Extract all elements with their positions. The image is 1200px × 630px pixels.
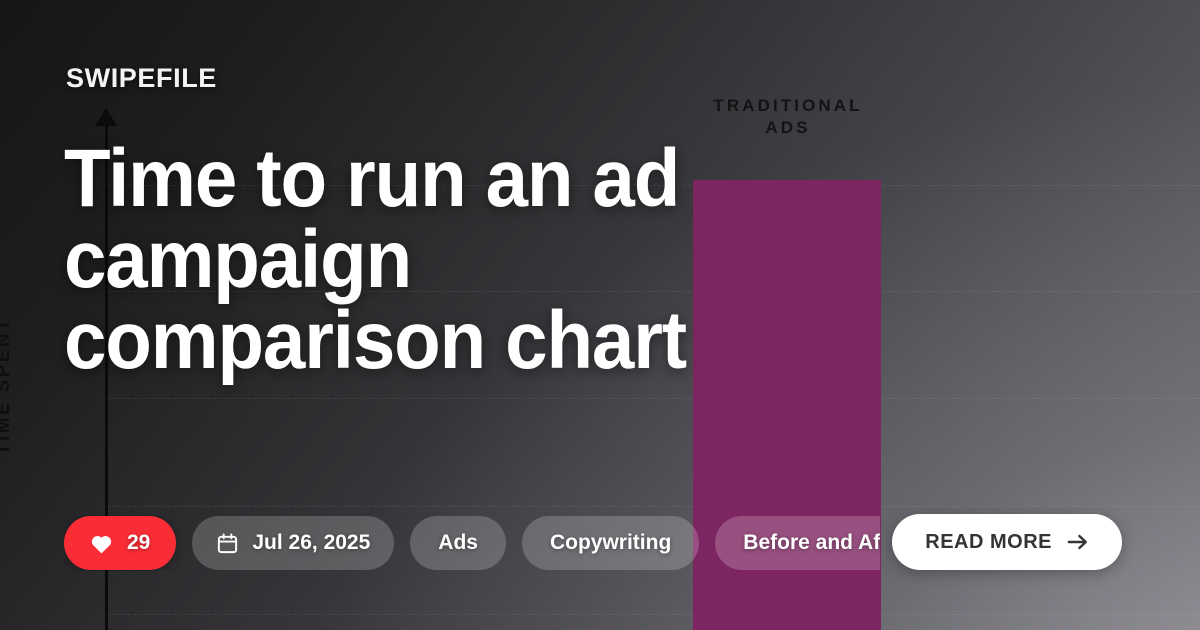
- calendar-icon: [216, 532, 239, 555]
- read-more-button[interactable]: READ MORE: [892, 514, 1122, 570]
- date-value: Jul 26, 2025: [252, 531, 370, 555]
- arrow-right-icon: [1067, 533, 1089, 551]
- meta-pill-row: 29 Jul 26, 2025 Ads Copywriting: [64, 515, 880, 571]
- heart-icon: [90, 533, 113, 554]
- card-content: SWIPEFILE Time to run an ad campaign com…: [0, 0, 1200, 630]
- likes-badge[interactable]: 29: [64, 516, 176, 570]
- date-badge[interactable]: Jul 26, 2025: [192, 516, 394, 570]
- tag-label: Ads: [438, 531, 478, 555]
- social-share-card: TIME SPENT TRADITIONAL ADS SWIPEFILE Tim…: [0, 0, 1200, 630]
- tag-pill-ads[interactable]: Ads: [410, 516, 506, 570]
- brand-name: SWIPEFILE: [66, 63, 217, 94]
- likes-count: 29: [127, 531, 150, 555]
- tag-pill-copywriting[interactable]: Copywriting: [522, 516, 699, 570]
- tag-pill-before-and-after[interactable]: Before and After: [715, 516, 880, 570]
- page-title: Time to run an ad campaign comparison ch…: [64, 138, 799, 382]
- tag-label: Before and After: [743, 531, 880, 555]
- tag-label: Copywriting: [550, 531, 671, 555]
- read-more-label: READ MORE: [925, 531, 1052, 554]
